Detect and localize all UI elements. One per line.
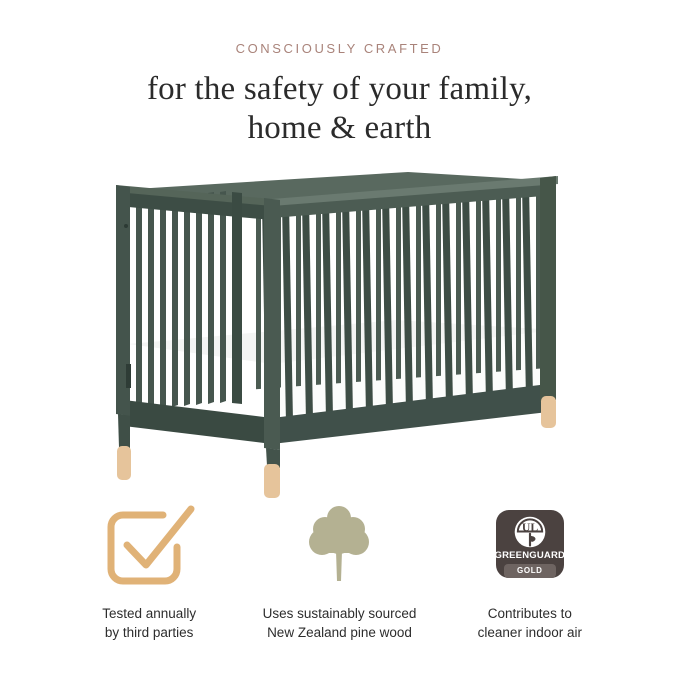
greenguard-gold-badge-icon: UL GREENGUARD GOLD	[496, 510, 564, 578]
feature-icon-wrapper	[101, 498, 197, 590]
greenguard-tier-label: GOLD	[517, 566, 543, 575]
feature-icon-wrapper: UL GREENGUARD GOLD	[496, 498, 564, 590]
crib-leg-tip-front-center	[264, 464, 280, 498]
feature-caption: Tested annually by third parties	[102, 604, 196, 642]
feature-list: Tested annually by third parties	[0, 498, 679, 648]
greenguard-tier-band: GOLD	[504, 564, 556, 578]
eyebrow-text: Consciously Crafted	[0, 41, 679, 56]
crib-post-front-right	[540, 176, 556, 402]
crib-leg-tip-front-right	[541, 396, 556, 428]
greenguard-name: GREENGUARD	[495, 550, 566, 561]
feature-caption: Uses sustainably sourced New Zealand pin…	[263, 604, 417, 642]
headline-line-2: home & earth	[0, 109, 679, 148]
crib-post-back-left	[232, 192, 242, 404]
svg-text:UL: UL	[522, 521, 538, 534]
feature-caption: Contributes to cleaner indoor air	[478, 604, 582, 642]
ul-leaf-mark-icon: UL	[512, 514, 548, 550]
crib-product-image	[96, 168, 588, 498]
crib-leg-front-left	[118, 414, 130, 450]
crib-mattress-support-bracket	[126, 364, 131, 388]
promo-page: Consciously Crafted for the safety of yo…	[0, 0, 679, 679]
crib-post-front-center	[264, 198, 280, 450]
page-title: for the safety of your family, home & ea…	[0, 70, 679, 148]
crib-hardware-screw-icon	[124, 224, 128, 228]
tree-icon	[304, 501, 374, 587]
crib-leg-tip-front-left	[117, 446, 131, 480]
headline-line-1: for the safety of your family,	[0, 70, 679, 109]
feature-tested-annually: Tested annually by third parties	[54, 498, 244, 642]
feature-icon-wrapper	[304, 498, 374, 590]
feature-sustainable-wood: Uses sustainably sourced New Zealand pin…	[244, 498, 434, 642]
feature-greenguard-gold: UL GREENGUARD GOLD Contributes to cleane…	[435, 498, 625, 642]
checkbox-check-icon	[101, 501, 197, 587]
